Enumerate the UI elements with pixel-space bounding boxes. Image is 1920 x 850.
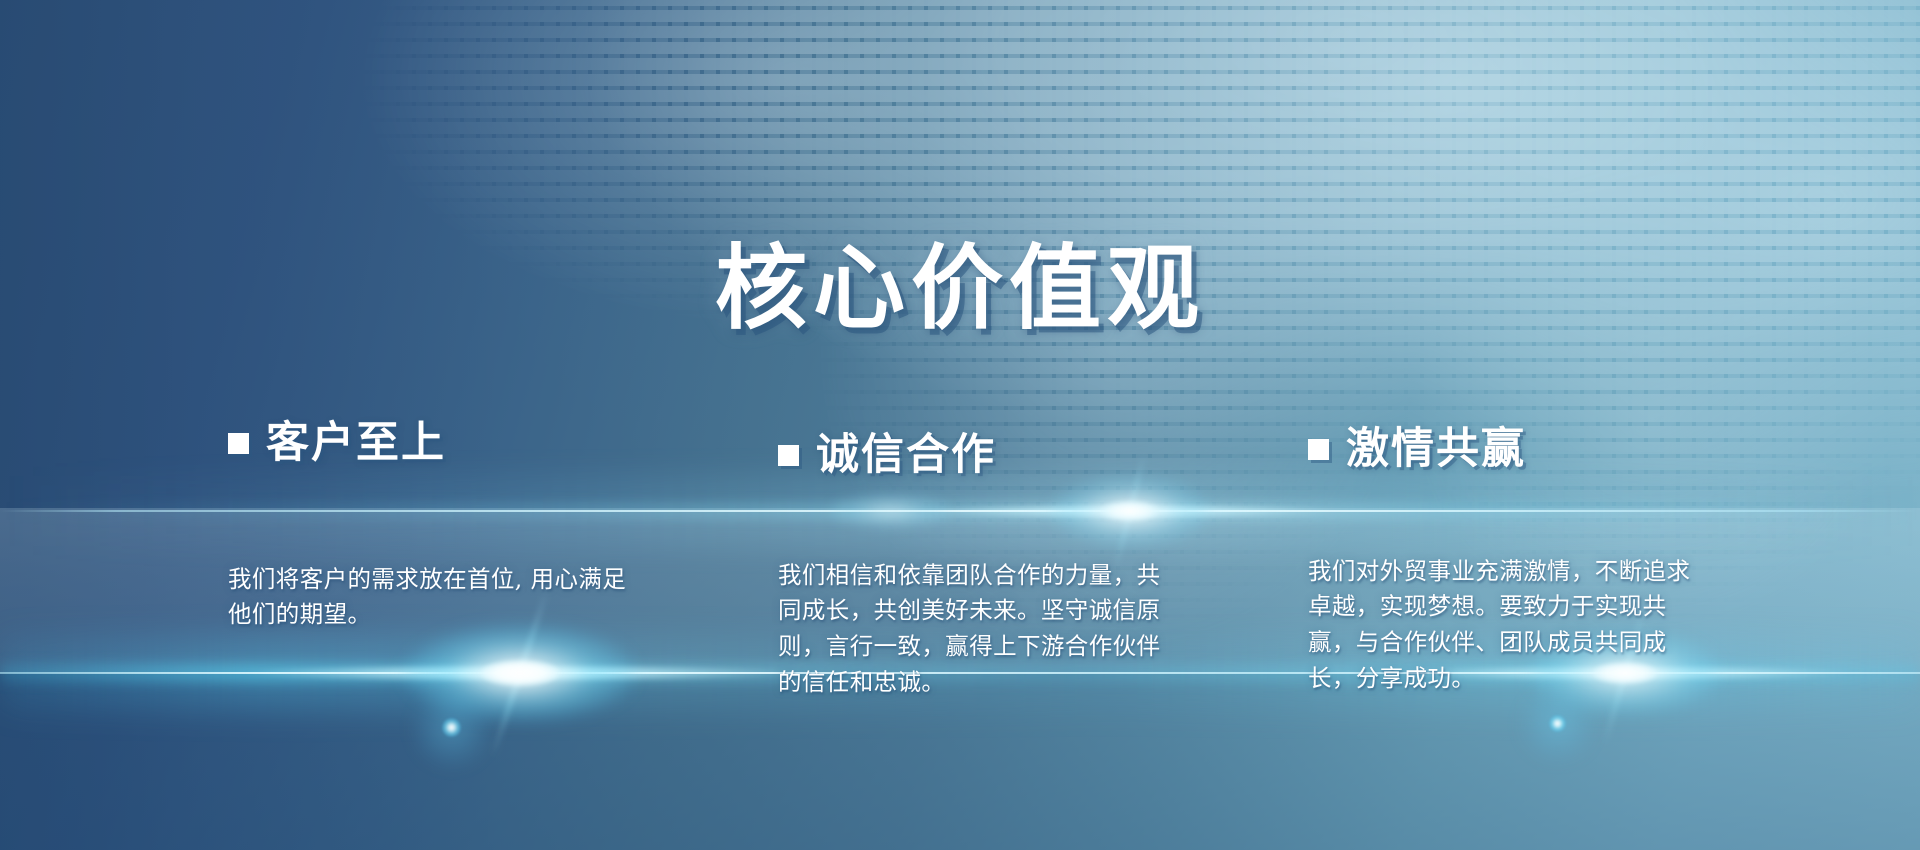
value-body-text: 我们将客户的需求放在首位, 用心满足他们的期望。 — [228, 562, 648, 633]
value-heading-row: 诚信合作 — [778, 434, 996, 477]
square-bullet-icon — [778, 445, 799, 466]
value-heading-row: 客户至上 — [228, 422, 446, 465]
value-body-text: 我们相信和依靠团队合作的力量，共同成长，共创美好未来。坚守诚信原则，言行一致，赢… — [778, 558, 1178, 701]
value-heading-label: 客户至上 — [266, 422, 446, 465]
core-values-banner: 核心价值观 客户至上 我们将客户的需求放在首位, 用心满足他们的期望。 诚信合作… — [0, 0, 1920, 850]
square-bullet-icon — [228, 433, 249, 454]
value-body-text: 我们对外贸事业充满激情，不断追求卓越，实现梦想。要致力于实现共赢，与合作伙伴、团… — [1308, 554, 1708, 697]
banner-content: 核心价值观 客户至上 我们将客户的需求放在首位, 用心满足他们的期望。 诚信合作… — [0, 0, 1920, 850]
value-heading-label: 激情共赢 — [1346, 428, 1526, 471]
value-heading-row: 激情共赢 — [1308, 428, 1526, 471]
square-bullet-icon — [1308, 439, 1329, 460]
values-columns: 客户至上 我们将客户的需求放在首位, 用心满足他们的期望。 诚信合作 我们相信和… — [0, 0, 1920, 850]
value-heading-label: 诚信合作 — [816, 434, 996, 477]
